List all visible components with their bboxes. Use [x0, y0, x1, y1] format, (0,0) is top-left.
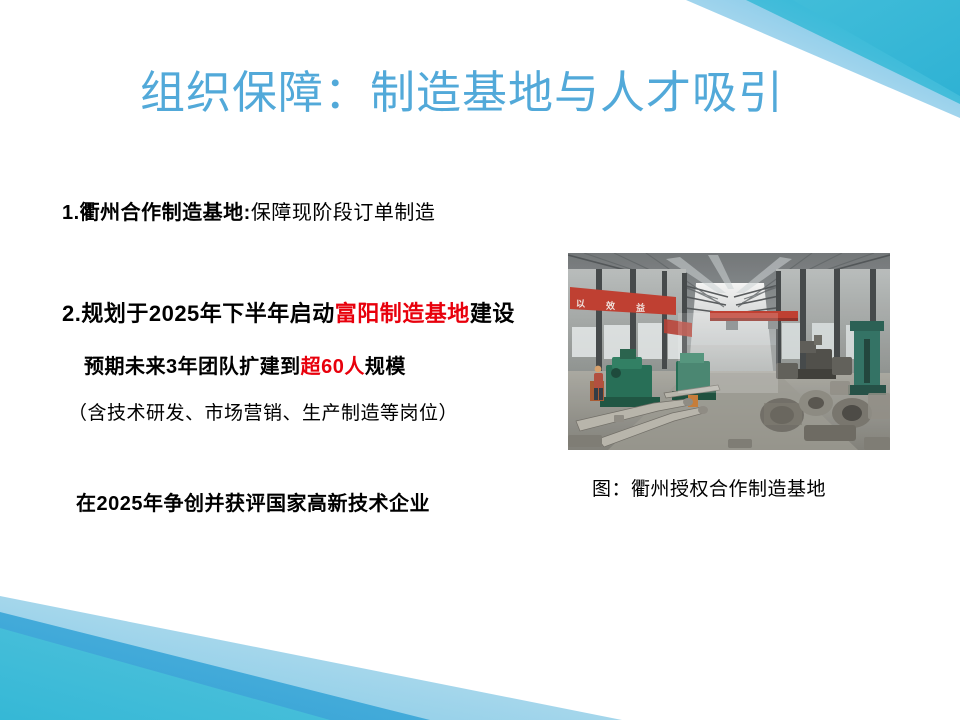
- bullet-3-highlight: 超60人: [301, 356, 365, 378]
- photo-caption: 图：衢州授权合作制造基地: [592, 474, 826, 501]
- bullet-line-4: （含技术研发、市场营销、生产制造等岗位）: [68, 398, 458, 425]
- bullet-2-highlight: 富阳制造基地: [335, 301, 470, 326]
- bullet-line-1: 1.衢州合作制造基地:保障现阶段订单制造: [62, 196, 435, 225]
- bullet-line-2: 2.规划于2025年下半年启动富阳制造基地建设: [62, 296, 515, 328]
- page-title: 组织保障：制造基地与人才吸引: [140, 66, 840, 119]
- slide-canvas: 组织保障：制造基地与人才吸引 1.衢州合作制造基地:保障现阶段订单制造 2.规划…: [0, 0, 960, 720]
- bullet-3-suffix: 规模: [365, 356, 406, 378]
- factory-photo: 以 效 益: [568, 253, 890, 450]
- bullet-1-label: 1.衢州合作制造基地:: [62, 202, 251, 224]
- deco-bottom-left-teal: [0, 628, 330, 720]
- deco-bottom-left-blue: [0, 612, 430, 720]
- bullet-4-text: （含技术研发、市场营销、生产制造等岗位）: [68, 403, 458, 424]
- factory-photo-illustration: 以 效 益: [568, 253, 890, 450]
- bullet-1-detail: 保障现阶段订单制造: [251, 202, 436, 224]
- bullet-line-3: 预期未来3年团队扩建到超60人规模: [84, 350, 406, 379]
- bullet-2-suffix: 建设: [470, 301, 515, 326]
- bullet-line-5: 在2025年争创并获评国家高新技术企业: [76, 487, 430, 516]
- bullet-2-prefix: 2.规划于2025年下半年启动: [62, 301, 335, 326]
- bullet-5-text: 在2025年争创并获评国家高新技术企业: [76, 493, 430, 515]
- deco-bottom-left-pale: [0, 596, 622, 720]
- bullet-3-prefix: 预期未来3年团队扩建到: [84, 356, 301, 378]
